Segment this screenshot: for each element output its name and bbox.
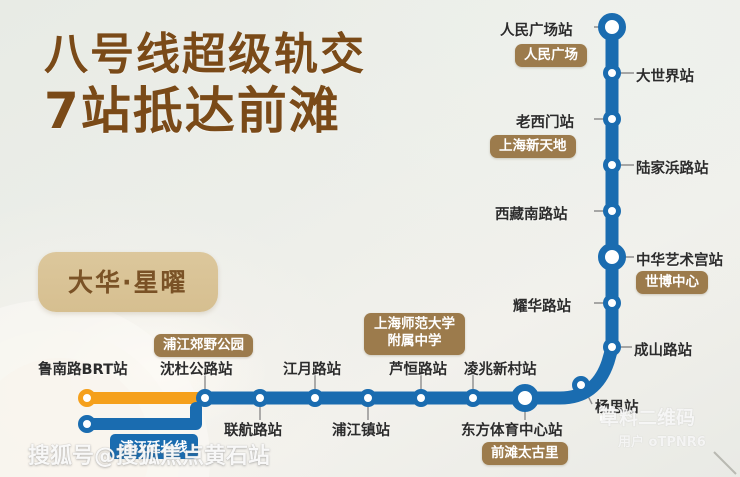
station-label-dashijie: 大世界站 (636, 65, 694, 86)
station-dot-lujiabanglu[interactable] (603, 156, 621, 174)
station-dot-lunanlu-brt[interactable] (78, 389, 96, 407)
station-dot-chengshanlu[interactable] (603, 338, 621, 356)
station-label-lianhanglu: 联航路站 (224, 419, 282, 440)
station-dot-luhenglu[interactable] (412, 389, 430, 407)
station-label-shendugonglu: 沈杜公路站 (160, 358, 233, 379)
station-dot-renminguangchang[interactable] (598, 13, 626, 41)
pujiang-extension-track (87, 408, 196, 424)
station-label-luhenglu: 芦恒路站 (389, 358, 447, 379)
station-label-dongfangtiyu: 东方体育中心站 (461, 419, 563, 440)
badge-shibo-center: 世博中心 (636, 271, 708, 294)
station-dot-pujiangzhen[interactable] (359, 389, 377, 407)
station-label-pujiangzhen: 浦江镇站 (332, 419, 390, 440)
station-label-lunanlu-brt: 鲁南路BRT站 (38, 358, 127, 379)
station-dot-zhonghuayishu[interactable] (598, 243, 626, 271)
badge-shishida-line-1: 上海师范大学 (374, 316, 455, 333)
station-label-jiangyuelu: 江月路站 (283, 358, 341, 379)
line-label-pujiang-extension: 浦江延长线 (110, 434, 198, 459)
badge-xintiandi: 上海新天地 (490, 135, 576, 158)
station-dot-dongfangtiyu[interactable] (511, 384, 539, 412)
corner-accent-line (714, 452, 736, 474)
badge-qiantan-taikooli: 前滩太古里 (482, 442, 568, 465)
station-dot-branch-terminal[interactable] (78, 415, 96, 433)
badge-shishida-fuzhong: 上海师范大学 附属中学 (364, 313, 465, 355)
station-label-xizangnanlu: 西藏南路站 (495, 203, 568, 224)
station-dot-yaohualu[interactable] (603, 294, 621, 312)
station-dot-shendugonglu[interactable] (196, 389, 214, 407)
station-dot-jiangyuelu[interactable] (306, 389, 324, 407)
station-label-yangsi: 杨思站 (595, 396, 639, 417)
station-label-lingzhaoxincun: 凌兆新村站 (464, 358, 537, 379)
station-label-lujiabanglu: 陆家浜路站 (636, 157, 709, 178)
badge-pujiang-park: 浦江郊野公园 (154, 334, 253, 357)
station-label-zhonghuayishu: 中华艺术宫站 (636, 249, 723, 270)
badge-shishida-line-2: 附属中学 (374, 333, 455, 350)
badge-renmin-square: 人民广场 (515, 44, 587, 67)
station-label-renminguangchang: 人民广场站 (500, 19, 573, 40)
station-dot-yangsi[interactable] (572, 376, 590, 394)
station-dot-lianhanglu[interactable] (251, 389, 269, 407)
station-dot-dashijie[interactable] (603, 64, 621, 82)
station-dot-xizangnanlu[interactable] (603, 202, 621, 220)
poster-canvas: 八号线超级轨交 7站抵达前滩 大华·星曜 (0, 0, 740, 477)
station-label-chengshanlu: 成山路站 (634, 339, 692, 360)
station-dot-lingzhaoxincun[interactable] (464, 389, 482, 407)
station-dot-laoximen[interactable] (603, 110, 621, 128)
station-label-yaohualu: 耀华路站 (513, 295, 571, 316)
station-label-laoximen: 老西门站 (516, 111, 574, 132)
